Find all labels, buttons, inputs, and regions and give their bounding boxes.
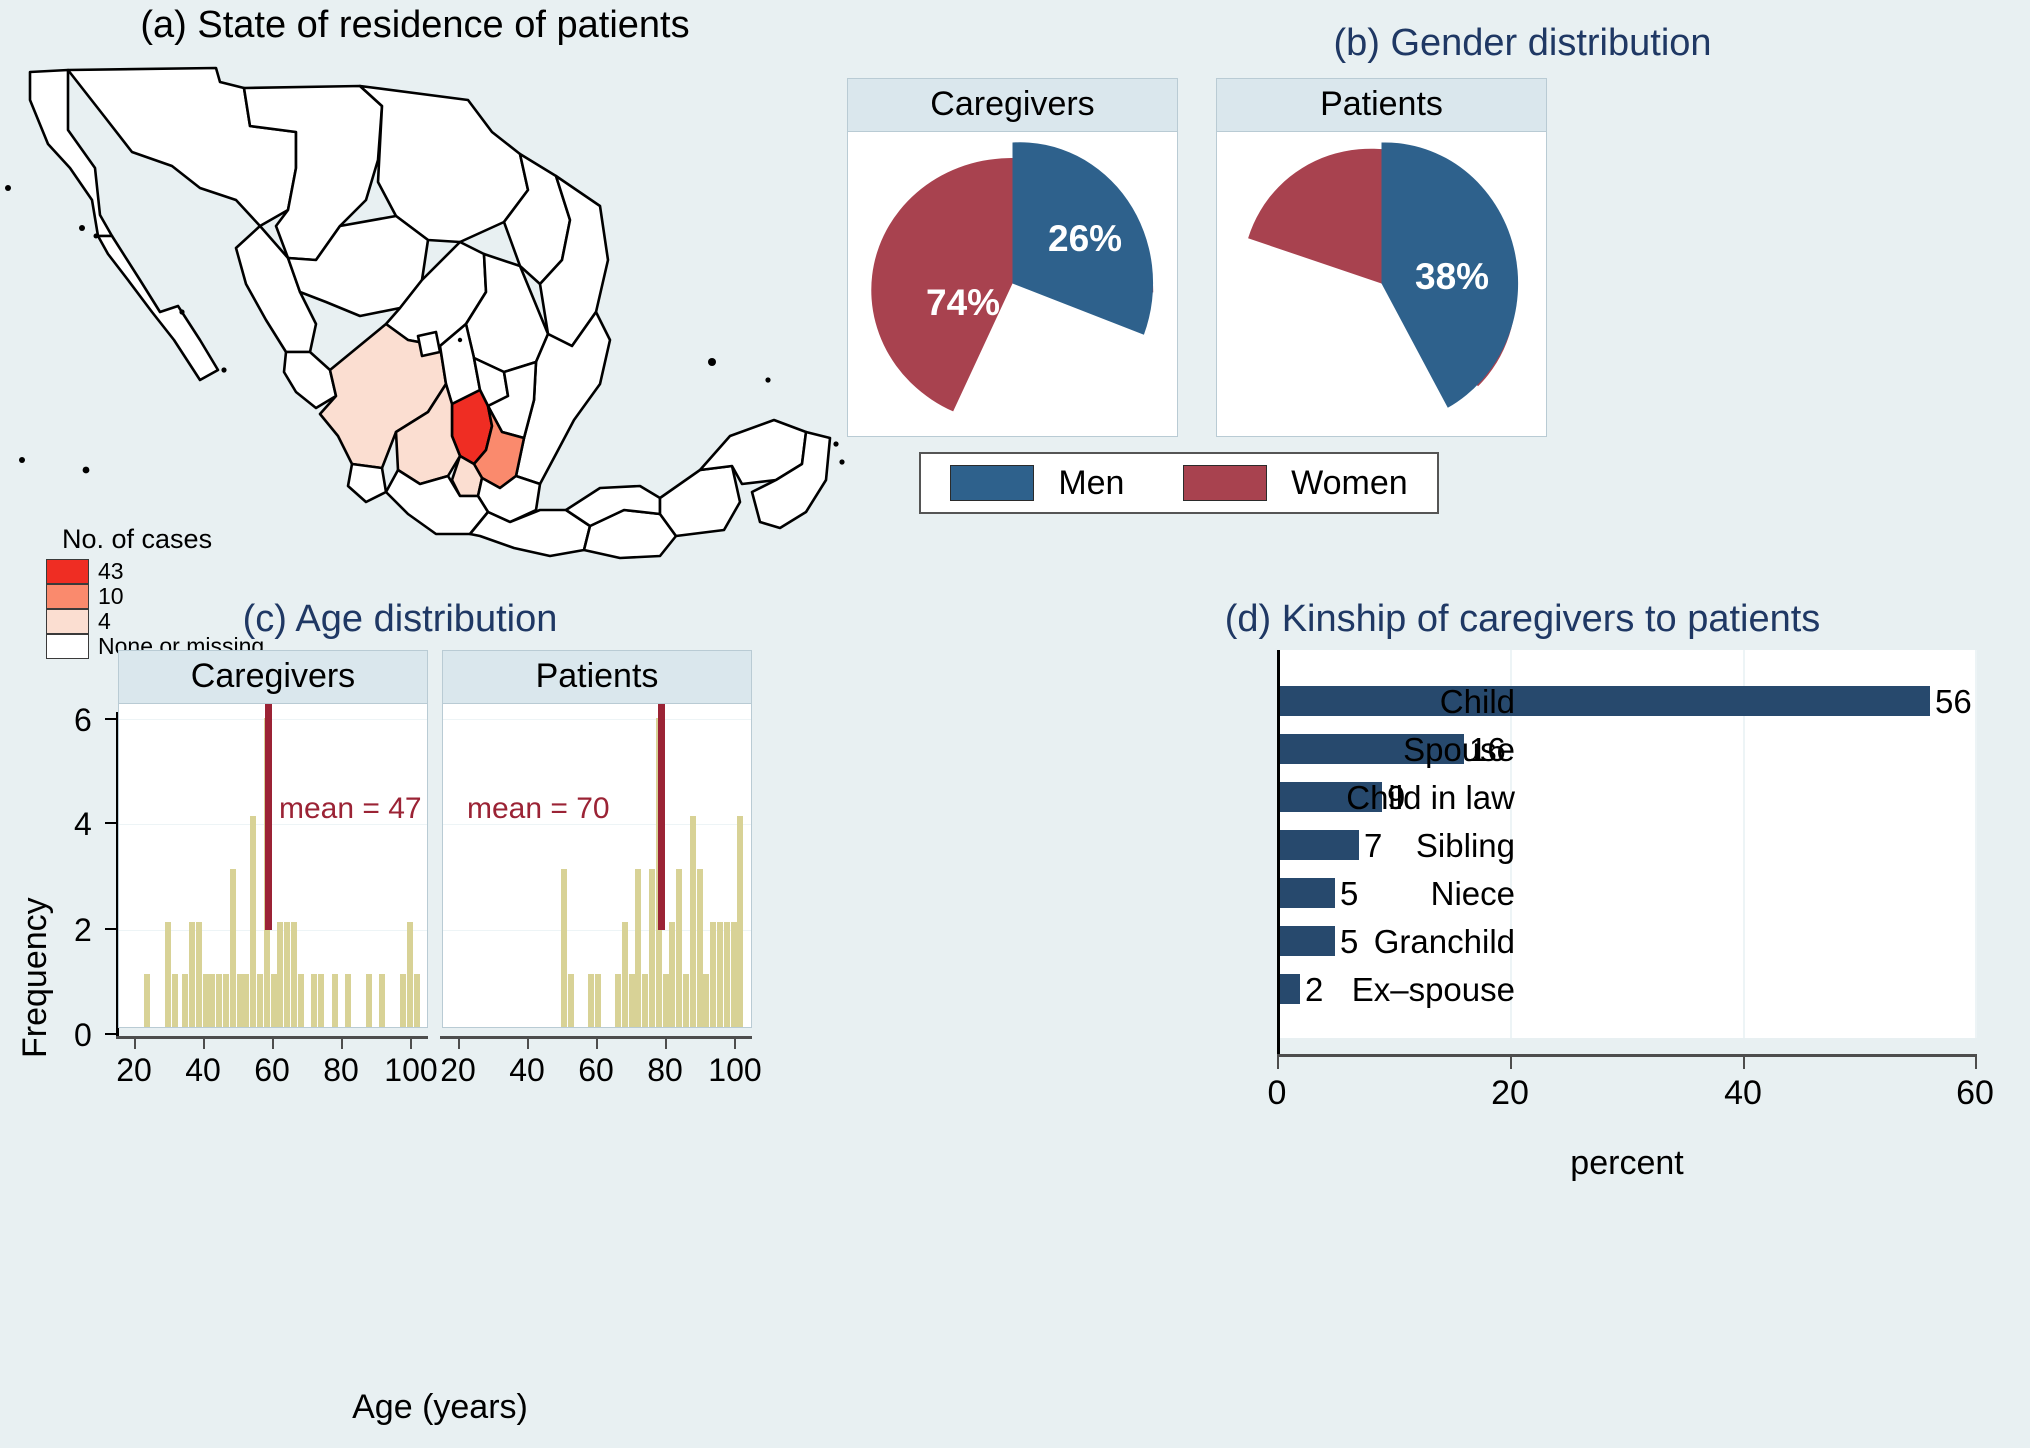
xtick xyxy=(410,1038,412,1049)
kinship-cat-child: Child xyxy=(1265,683,1515,721)
state-campeche xyxy=(660,466,740,536)
pie-label-women-patients: 62% xyxy=(1287,298,1361,340)
hist-bar xyxy=(144,974,150,1027)
xtick-label-40: 40 xyxy=(1713,1074,1773,1113)
hist-plot-caregivers: mean = 47 xyxy=(118,704,428,1028)
hist-bar xyxy=(407,922,413,1027)
strip-label-caregivers: Caregivers xyxy=(847,78,1178,132)
hist-bar xyxy=(291,922,297,1027)
xtick-20 xyxy=(1510,1057,1512,1069)
hist-bar xyxy=(196,922,202,1027)
hist-bar xyxy=(676,869,682,1027)
xtick-label: 60 xyxy=(242,1052,302,1089)
xtick xyxy=(458,1038,460,1049)
hist-bar xyxy=(724,922,730,1027)
hist-bar xyxy=(345,974,351,1027)
gender-legend-label-women: Women xyxy=(1291,464,1408,503)
panel-b-title: (b) Gender distribution xyxy=(1015,22,2030,65)
hist-bar xyxy=(277,922,283,1027)
mean-line-caregivers xyxy=(265,704,272,930)
hist-bar xyxy=(332,974,338,1027)
island-dot xyxy=(221,367,226,372)
strip-label-patients: Patients xyxy=(1216,78,1547,132)
xtick xyxy=(341,1038,343,1049)
hist-bar xyxy=(189,922,195,1027)
xtick-label-20: 20 xyxy=(1480,1074,1540,1113)
xtick xyxy=(596,1038,598,1049)
state-aguascalientes xyxy=(418,332,440,356)
hist-bar xyxy=(615,974,621,1027)
hist-bar xyxy=(230,869,236,1027)
island-dot xyxy=(5,185,11,191)
panel-d-title: (d) Kinship of caregivers to patients xyxy=(1015,598,2030,641)
hist-bar xyxy=(209,974,215,1027)
mean-line-patients xyxy=(658,704,665,930)
hist-bar xyxy=(703,974,709,1027)
kinship-cat-niece: Niece xyxy=(1265,875,1515,913)
hist-bar xyxy=(568,974,574,1027)
pie-label-men-caregivers: 26% xyxy=(1048,218,1122,260)
kinship-cat-granchild: Granchild xyxy=(1265,923,1515,961)
xtick-label: 80 xyxy=(635,1052,695,1089)
hist-bar xyxy=(649,869,655,1027)
hist-bar xyxy=(642,974,648,1027)
hist-bar xyxy=(683,974,689,1027)
hist-bar xyxy=(284,922,290,1027)
map-legend-title: No. of cases xyxy=(62,524,264,555)
island-dot xyxy=(179,309,184,314)
hist-plot-patients: mean = 70 xyxy=(442,704,752,1028)
ytick-label-4: 4 xyxy=(74,806,92,843)
hist-bar xyxy=(717,922,723,1027)
kinship-cat-child-in-law: Child in law xyxy=(1265,779,1515,817)
hist-bar xyxy=(223,974,229,1027)
kinship-xaxis xyxy=(1277,1054,1977,1057)
hist-bar xyxy=(414,974,420,1027)
hist-bar xyxy=(595,974,601,1027)
hist-bar xyxy=(243,974,249,1027)
panel-c-xlabel: Age (years) xyxy=(120,1388,760,1427)
pie-label-men-patients: 38% xyxy=(1415,256,1489,298)
xtick-label: 60 xyxy=(566,1052,626,1089)
ytick-label-0: 0 xyxy=(74,1017,92,1054)
kinship-cat-spouse: Spouse xyxy=(1265,731,1515,769)
panel-d-kinship: (d) Kinship of caregivers to patients 56… xyxy=(1015,588,2030,1448)
mean-label-caregivers: mean = 47 xyxy=(279,792,422,826)
island-dot xyxy=(708,358,716,366)
gridline-6 xyxy=(119,719,427,720)
pie-chart-patients xyxy=(1217,132,1546,435)
ytick-4 xyxy=(105,822,116,824)
xtick-label: 40 xyxy=(173,1052,233,1089)
xtick xyxy=(134,1038,136,1049)
hist-strip-caregivers: Caregivers xyxy=(118,650,428,704)
panel-d-xlabel: percent xyxy=(1277,1144,1977,1183)
pie-chart-caregivers xyxy=(848,132,1177,435)
island-dot xyxy=(839,459,844,464)
island-dot xyxy=(94,234,99,239)
kinship-cat-sibling: Sibling xyxy=(1265,827,1515,865)
hist-bar xyxy=(400,974,406,1027)
xtick xyxy=(527,1038,529,1049)
island-dot xyxy=(765,377,770,382)
pie-card-patients: Patients 38% 62% xyxy=(1216,78,1547,437)
gender-legend-swatch-women xyxy=(1183,465,1267,501)
xtick-label: 80 xyxy=(311,1052,371,1089)
island-dot xyxy=(833,441,838,446)
xtick-label: 20 xyxy=(104,1052,164,1089)
ytick-label-6: 6 xyxy=(74,702,92,739)
panel-c-age: (c) Age distribution Frequency 6 4 2 0 C… xyxy=(0,588,1010,1448)
hist-bar xyxy=(690,816,696,1027)
hist-bar xyxy=(622,922,628,1027)
pie-label-women-caregivers: 74% xyxy=(926,282,1000,324)
state-baja-california-sur xyxy=(98,236,218,380)
gender-legend-swatch-men xyxy=(950,465,1034,501)
xtick-label: 40 xyxy=(497,1052,557,1089)
xtick-label-60: 60 xyxy=(1945,1074,2005,1113)
xtick-40 xyxy=(1743,1057,1745,1069)
hist-bar xyxy=(250,816,256,1027)
pie-plot-patients: 38% 62% xyxy=(1216,132,1547,437)
xtick xyxy=(734,1038,736,1049)
gender-legend-label-men: Men xyxy=(1058,464,1124,503)
hist-bar xyxy=(311,974,317,1027)
island-dot xyxy=(19,457,25,463)
hist-bar xyxy=(669,922,675,1027)
ytick-6 xyxy=(105,718,116,720)
state-colima xyxy=(348,464,386,502)
hist-bar xyxy=(182,974,188,1027)
hist-bar xyxy=(366,974,372,1027)
panel-c-ylabel: Frequency xyxy=(16,897,55,1058)
legend-row-43: 43 xyxy=(46,559,264,584)
ytick-0 xyxy=(105,1033,116,1035)
hist-bar xyxy=(165,922,171,1027)
hist-bar xyxy=(216,974,222,1027)
xtick-label: 20 xyxy=(428,1052,488,1089)
hist-bar xyxy=(379,974,385,1027)
xtick-60 xyxy=(1975,1057,1977,1069)
gender-legend: Men Women xyxy=(919,452,1439,514)
ytick-label-2: 2 xyxy=(74,912,92,949)
hist-bar xyxy=(561,869,567,1027)
kinship-cat-ex-spouse: Ex–spouse xyxy=(1265,971,1515,1009)
hist-bar xyxy=(318,974,324,1027)
kinship-value-child: 56 xyxy=(1935,683,1972,721)
panel-b-gender: (b) Gender distribution Caregivers 26% 7… xyxy=(1015,0,2030,600)
hist-card-patients: Patients xyxy=(442,650,752,1028)
hist-bar xyxy=(257,974,263,1027)
pie-card-caregivers: Caregivers 26% 74% xyxy=(847,78,1178,437)
vgrid-60 xyxy=(1975,650,1977,1038)
xtick-label-0: 0 xyxy=(1247,1074,1307,1113)
hist-bar xyxy=(737,816,743,1027)
hist-bar xyxy=(710,922,716,1027)
legend-label-43: 43 xyxy=(98,560,124,583)
island-dot xyxy=(79,225,85,231)
ytick-2 xyxy=(105,928,116,930)
hist-strip-patients: Patients xyxy=(442,650,752,704)
island-dot xyxy=(83,467,90,474)
xtick xyxy=(665,1038,667,1049)
xtick-0 xyxy=(1277,1057,1279,1069)
gridline-2 xyxy=(443,930,751,931)
xtick-label: 100 xyxy=(700,1052,770,1089)
gender-legend-item-women: Women xyxy=(1183,464,1408,503)
hist-card-caregivers: Caregivers xyxy=(118,650,428,1028)
island-dot xyxy=(458,338,462,342)
panel-c-title: (c) Age distribution xyxy=(0,598,800,641)
hist-bar xyxy=(588,974,594,1027)
gridline-6 xyxy=(443,719,751,720)
hist-bar xyxy=(298,974,304,1027)
mean-label-patients: mean = 70 xyxy=(467,792,610,826)
pie-plot-caregivers: 26% 74% xyxy=(847,132,1178,437)
xtick xyxy=(272,1038,274,1049)
legend-swatch-43 xyxy=(46,559,89,584)
hist-bar xyxy=(635,869,641,1027)
gender-legend-item-men: Men xyxy=(950,464,1124,503)
xtick xyxy=(203,1038,205,1049)
hist-bar xyxy=(172,974,178,1027)
state-nayarit xyxy=(284,352,336,408)
state-oaxaca xyxy=(470,510,590,556)
